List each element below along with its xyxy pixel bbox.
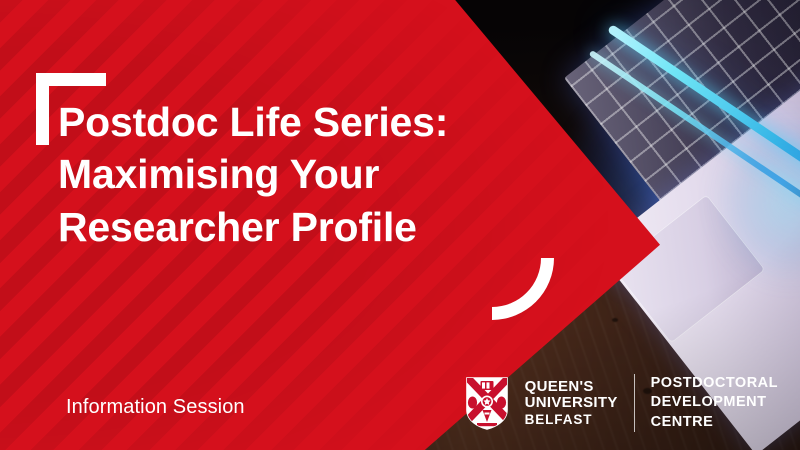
- promo-slide: Postdoc Life Series: Maximising Your Res…: [0, 0, 800, 450]
- unit-wordmark: POSTDOCTORAL DEVELOPMENT CENTRE: [651, 374, 778, 431]
- title-line-1: Postdoc Life Series:: [58, 96, 528, 148]
- unit-line-2: DEVELOPMENT: [651, 393, 778, 412]
- university-line-1: QUEEN'S: [525, 379, 618, 396]
- title-line-2: Maximising Your: [58, 148, 528, 200]
- university-line-2: UNIVERSITY: [525, 395, 618, 412]
- logo-lockup: QUEEN'S UNIVERSITY BELFAST POSTDOCTORAL …: [465, 374, 778, 432]
- page-title: Postdoc Life Series: Maximising Your Res…: [58, 96, 528, 253]
- university-line-3: BELFAST: [525, 412, 618, 427]
- unit-line-1: POSTDOCTORAL: [651, 374, 778, 393]
- university-wordmark: QUEEN'S UNIVERSITY BELFAST: [525, 379, 618, 428]
- logo-divider: [634, 374, 635, 432]
- unit-line-3: CENTRE: [651, 413, 778, 432]
- university-crest-icon: [465, 377, 509, 430]
- title-line-3: Researcher Profile: [58, 201, 528, 253]
- subtitle: Information Session: [66, 396, 245, 419]
